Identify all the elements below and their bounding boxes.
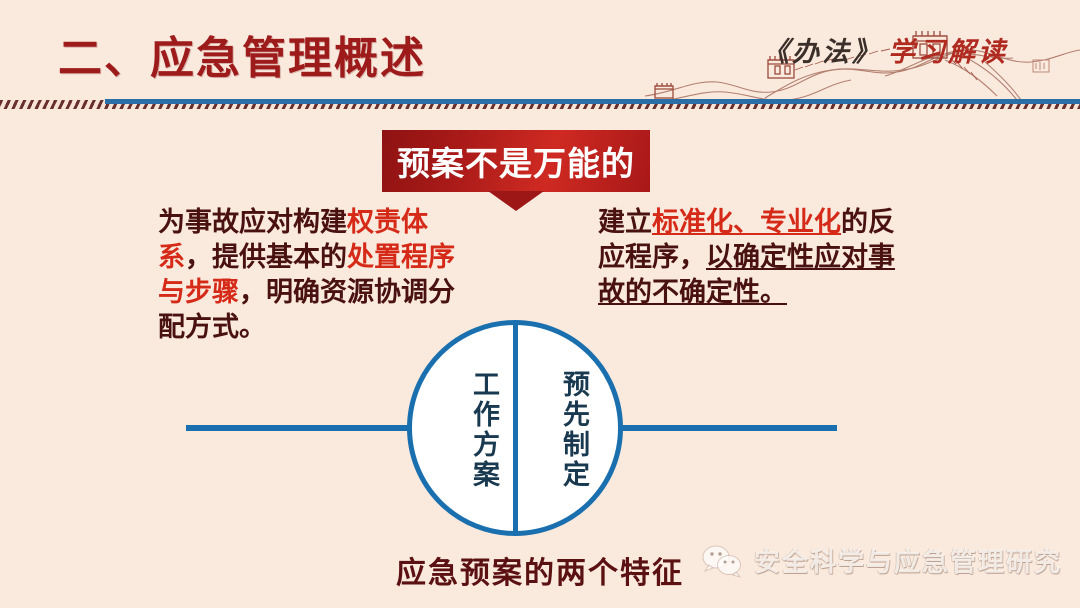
diagram-label-right: 预先制定 — [545, 355, 589, 505]
diagram-right-connector — [612, 425, 837, 431]
slide-header: 二、应急管理概述 — [0, 0, 1080, 108]
diagram-label-left: 工作方案 — [455, 355, 499, 505]
left-text-segment-0: 为事故应对构建 — [158, 207, 347, 237]
header-script-book: 《办法》 — [762, 37, 882, 67]
headline-banner-text: 预案不是万能的 — [382, 130, 650, 192]
left-text-segment-2: ，提供基本的 — [185, 242, 347, 272]
right-description-text: 建立标准化、专业化的反应程序，以确定性应对事故的不确定性。 — [598, 205, 898, 310]
headline-banner-tail-icon — [488, 191, 544, 211]
header-script-title: 《办法》学习解读 — [762, 30, 1008, 69]
page-title: 二、应急管理概述 — [58, 22, 426, 86]
diagram-left-connector — [186, 425, 418, 431]
diagram-circle-divider — [513, 322, 518, 534]
watermark-label: 安全科学与应急管理研究 — [754, 542, 1062, 579]
wechat-icon — [702, 544, 742, 578]
right-text-segment-1: 标准化、专业化 — [652, 207, 841, 237]
watermark: 安全科学与应急管理研究 — [702, 542, 1062, 579]
header-divider — [0, 96, 1080, 109]
right-text-segment-0: 建立 — [598, 207, 652, 237]
header-script-red: 学习解读 — [888, 37, 1008, 67]
left-description-text: 为事故应对构建权责体系，提供基本的处置程序与步骤，明确资源协调分配方式。 — [158, 205, 458, 345]
diagram-circle — [407, 320, 623, 536]
headline-banner: 预案不是万能的 — [382, 130, 650, 200]
slide-canvas: 二、应急管理概述 — [0, 0, 1080, 608]
divider-blue-line — [105, 99, 1080, 104]
